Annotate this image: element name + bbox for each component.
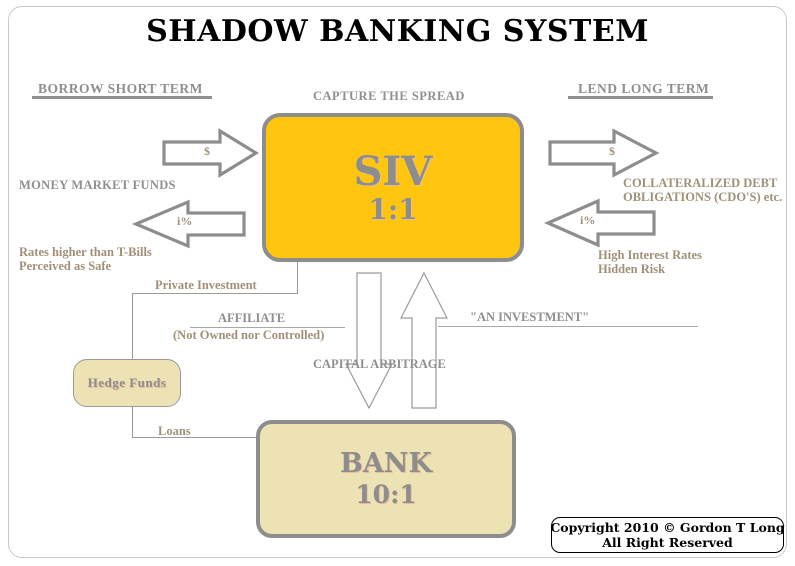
label-money-market-funds: MONEY MARKET FUNDS [19, 178, 176, 193]
label-cdo-line1: COLLATERALIZED DEBT [623, 176, 777, 191]
heading-lend-underline [568, 96, 713, 99]
arrow-label-dollar-right: $ [609, 144, 615, 159]
siv-box[interactable]: SIV 1:1 [262, 113, 524, 262]
connector-loans [132, 437, 259, 438]
arrow-label-interest-right: i% [580, 213, 595, 228]
label-rates-higher-note: Rates higher than T-Bills [19, 245, 152, 260]
heading-capture-the-spread: CAPTURE THE SPREAD [313, 89, 465, 104]
label-affiliate: AFFILIATE [218, 311, 285, 326]
arrow-money-in-right [162, 129, 258, 177]
label-affiliate-sub: (Not Owned nor Controlled) [173, 328, 324, 343]
connector-private-investment [132, 293, 298, 294]
heading-borrow-short-term: BORROW SHORT TERM [38, 81, 203, 97]
hedge-funds-box[interactable]: Hedge Funds [73, 359, 181, 407]
copyright-line2: All Right Reserved [602, 535, 733, 550]
heading-borrow-underline [32, 96, 212, 99]
diagram-canvas: SHADOW BANKING SYSTEM BORROW SHORT TERM … [0, 0, 795, 566]
arrow-capital-up [400, 272, 448, 410]
arrow-interest-in-right [546, 199, 656, 247]
arrow-label-dollar-left: $ [204, 144, 210, 159]
siv-name: SIV [354, 150, 433, 194]
label-perceived-safe-note: Perceived as Safe [19, 259, 111, 274]
page-title: SHADOW BANKING SYSTEM [0, 14, 795, 49]
label-capital-arbitrage: CAPITAL ARBITRAGE [313, 357, 446, 372]
label-hidden-risk: Hidden Risk [598, 262, 665, 277]
label-loans: Loans [158, 424, 191, 439]
label-private-investment: Private Investment [155, 278, 257, 293]
siv-ratio: 1:1 [368, 194, 417, 226]
arrow-label-interest-left: i% [177, 214, 192, 229]
an-investment-underline [438, 326, 698, 327]
connector-siv-down [297, 262, 298, 294]
label-an-investment: "AN INVESTMENT" [470, 310, 589, 325]
copyright-line1: Copyright 2010 © Gordon T Long [550, 520, 784, 535]
heading-lend-long-term: LEND LONG TERM [578, 81, 709, 97]
bank-box[interactable]: BANK 10:1 [256, 420, 516, 538]
arrow-capital-down [345, 272, 393, 410]
label-high-interest-rates: High Interest Rates [598, 248, 702, 263]
arrow-lend-out-right [548, 129, 658, 177]
copyright-box: Copyright 2010 © Gordon T Long All Right… [551, 517, 784, 553]
label-cdo-line2: OBLIGATIONS (CDO'S) etc. [623, 190, 782, 205]
connector-hedge-down [132, 407, 133, 438]
bank-ratio: 10:1 [355, 480, 416, 510]
bank-name: BANK [340, 448, 432, 480]
connector-to-hedge-funds [132, 293, 133, 360]
